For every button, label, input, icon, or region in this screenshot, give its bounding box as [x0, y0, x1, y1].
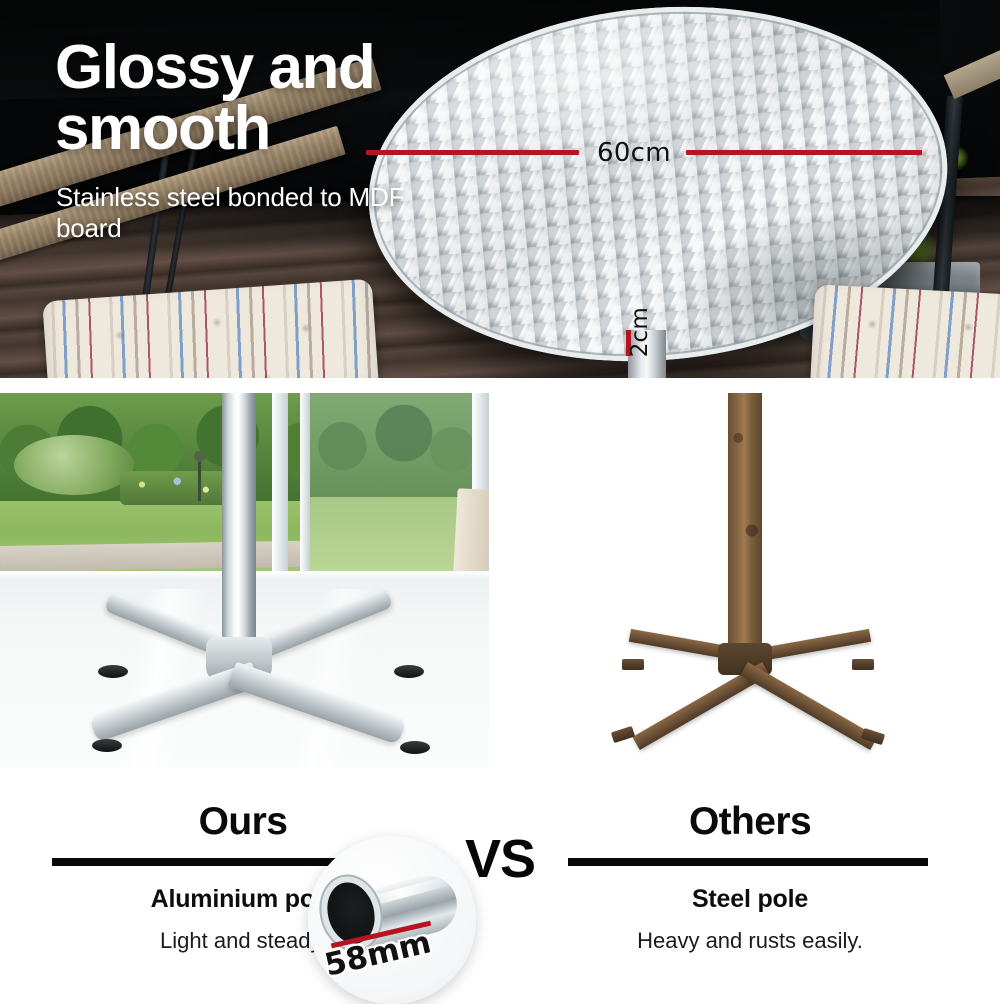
window-frame-mullion [300, 393, 310, 583]
ours-vs-others-block: Ours Others VS Aluminium pole Steel pole… [0, 768, 1000, 1000]
thickness-label: 2cm [627, 307, 653, 357]
rusty-foot-front-left [611, 726, 635, 743]
window-glass-pane [310, 393, 472, 583]
base-foot-back-left [98, 665, 128, 678]
base-foot-back-right [394, 665, 424, 678]
diameter-line-right [686, 150, 922, 155]
photo-steel-base [500, 393, 1000, 768]
garden-lamp-head-icon [194, 451, 205, 462]
rusty-leg-front-right [740, 662, 877, 750]
column-heading-ours: Ours [93, 800, 393, 844]
base-foot-front-right [400, 741, 430, 754]
garden-shrub [14, 435, 134, 495]
striped-cushion-right [809, 284, 1000, 378]
aluminium-pole [222, 393, 256, 651]
base-foot-front-left [92, 739, 122, 752]
product-feature-graphic: 60cm 2cm Glossy and smooth Stainless ste… [0, 0, 1000, 1000]
photo-aluminium-base [0, 393, 489, 768]
rusty-steel-pole [728, 393, 762, 661]
divider-rule-right [568, 858, 928, 866]
rusty-foot-back-right [852, 659, 874, 670]
garden-lamp-post [198, 457, 201, 501]
hero-panel: 60cm 2cm Glossy and smooth Stainless ste… [0, 0, 1000, 378]
diameter-label: 60cm [597, 138, 671, 168]
hero-headline: Glossy and smooth [55, 38, 435, 160]
caption-others: Steel pole [600, 885, 900, 914]
garden-flowerbed [120, 471, 230, 505]
window-frame-left [272, 393, 288, 583]
detail-others: Heavy and rusts easily. [600, 928, 900, 954]
pole-diameter-callout: 58mm [308, 836, 476, 1004]
comparison-photos-row: 58mm [0, 393, 1000, 768]
column-heading-others: Others [600, 800, 900, 844]
hero-subheadline: Stainless steel bonded to MDF board [56, 182, 456, 243]
rusty-foot-back-left [622, 659, 644, 670]
